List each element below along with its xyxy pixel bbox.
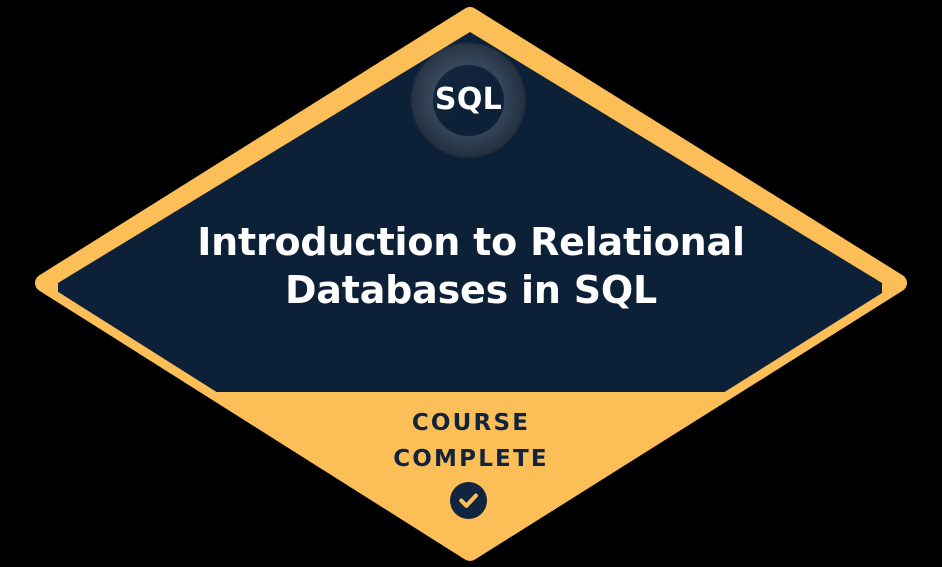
badge-inner-panel — [58, 32, 882, 392]
course-completion-badge: SQL Introduction to Relational Databases… — [0, 0, 942, 567]
badge-shape — [0, 0, 942, 567]
badge-inner-panel-group — [58, 32, 882, 392]
